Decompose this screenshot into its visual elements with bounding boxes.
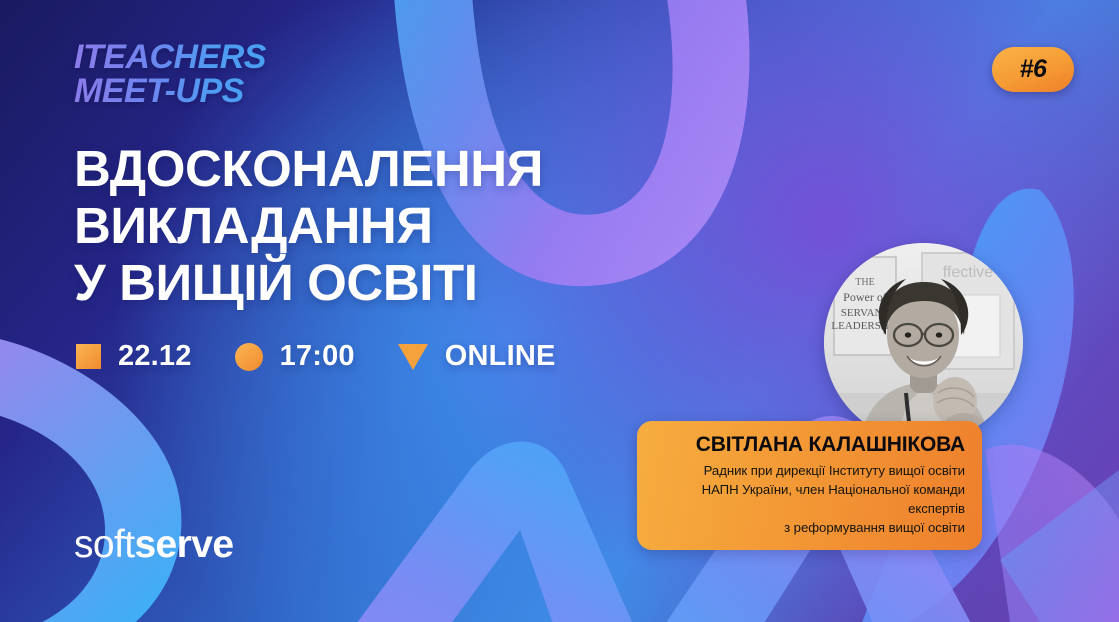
square-icon [76, 344, 101, 369]
softserve-logo-thin: soft [74, 523, 134, 566]
speaker-bio-line-2: НАПН України, член Національної команди … [654, 480, 965, 518]
iteachers-meetups-logo: ITEACHERS MEET-UPS [74, 40, 266, 108]
event-format-label: ONLINE [445, 340, 556, 373]
event-time-label: 17:00 [280, 340, 355, 373]
logo-line-2: MEET-UPS [74, 74, 266, 108]
event-format: ONLINE [398, 340, 556, 373]
speaker-bio-line-1: Радник при дирекції Інституту вищої осві… [654, 461, 965, 480]
title-line-1: ВДОСКОНАЛЕННЯ [74, 140, 543, 197]
softserve-logo-bold: serve [134, 523, 233, 566]
ribbon-bottom-m-left [300, 442, 640, 622]
speaker-portrait-illustration: THE Power of SERVANT LEADERSHIP ffective [824, 243, 1023, 442]
title-line-3: У ВИЩІЙ ОСВІТІ [74, 254, 543, 311]
speaker-bio-line-3: з реформування вищої освіти [654, 518, 965, 537]
page-title: ВДОСКОНАЛЕННЯ ВИКЛАДАННЯ У ВИЩІЙ ОСВІТІ [74, 140, 543, 311]
event-banner: ITEACHERS MEET-UPS #6 ВДОСКОНАЛЕННЯ ВИКЛ… [0, 0, 1119, 622]
speaker-info-card: СВІТЛАНА КАЛАШНІКОВА Радник при дирекції… [637, 421, 982, 550]
triangle-down-icon [398, 344, 428, 370]
episode-number-label: #6 [1020, 55, 1047, 84]
ribbon-left-curl [0, 330, 181, 622]
event-meta-row: 22.12 17:00 ONLINE [76, 340, 556, 373]
softserve-logo: softserve [74, 524, 233, 566]
svg-text:ffective: ffective [943, 264, 994, 281]
circle-icon [235, 343, 263, 371]
svg-text:THE: THE [855, 277, 874, 288]
svg-text:Power of: Power of [843, 290, 887, 304]
speaker-name: СВІТЛАНА КАЛАШНІКОВА [654, 432, 965, 457]
event-time: 17:00 [235, 340, 355, 373]
logo-line-1: ITEACHERS [74, 40, 266, 74]
episode-number-badge: #6 [992, 47, 1074, 92]
speaker-photo: THE Power of SERVANT LEADERSHIP ffective [824, 243, 1023, 442]
event-date: 22.12 [76, 340, 192, 373]
title-line-2: ВИКЛАДАННЯ [74, 197, 543, 254]
event-date-label: 22.12 [118, 340, 192, 373]
